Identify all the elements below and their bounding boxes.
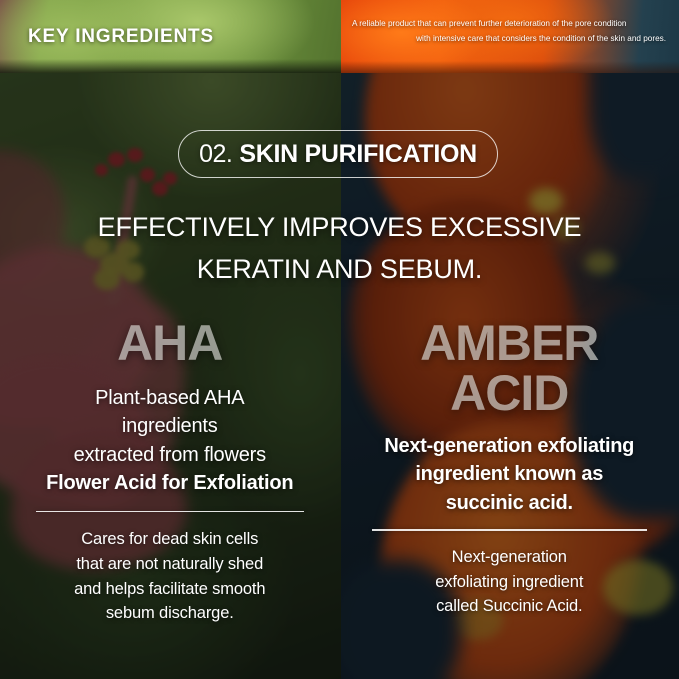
- ingredient-body-line: ingredient known as: [362, 460, 658, 488]
- ingredient-title-amber-acid: AMBER ACID: [362, 318, 658, 418]
- ingredient-title-line: ACID: [362, 368, 658, 418]
- section-badge-number: 02.: [199, 140, 232, 169]
- ingredient-subtext-line: exfoliating ingredient: [362, 570, 658, 595]
- ingredient-subtext-line: Cares for dead skin cells: [26, 527, 314, 552]
- ingredient-body-line: Next-generation exfoliating: [362, 432, 658, 460]
- ingredient-body-line: succinic acid.: [362, 489, 658, 517]
- ingredient-subtext-amber-acid: Next-generation exfoliating ingredient c…: [362, 545, 658, 619]
- section-headline: EFFECTIVELY IMPROVES EXCESSIVE KERATIN A…: [0, 207, 679, 291]
- key-ingredients-infographic: KEY INGREDIENTS A reliable product that …: [0, 0, 679, 679]
- ingredient-body-amber-acid: Next-generation exfoliating ingredient k…: [362, 432, 658, 517]
- ingredient-body-line: Plant-based AHA: [26, 384, 314, 412]
- ingredient-subtext-line: and helps facilitate smooth: [26, 577, 314, 602]
- column-divider: [36, 511, 304, 513]
- headline-line-1: EFFECTIVELY IMPROVES EXCESSIVE: [0, 207, 679, 249]
- ingredient-subtext-line: that are not naturally shed: [26, 552, 314, 577]
- headline-line-2: KERATIN AND SEBUM.: [0, 249, 679, 291]
- ingredient-column-aha: AHA Plant-based AHA ingredients extracte…: [0, 318, 340, 626]
- ingredient-subtext-aha: Cares for dead skin cells that are not n…: [26, 527, 314, 626]
- ingredient-title-aha: AHA: [26, 318, 314, 368]
- ingredient-subtext-line: sebum discharge.: [26, 601, 314, 626]
- ingredient-subtext-line: called Succinic Acid.: [362, 594, 658, 619]
- ingredient-body-line: ingredients: [26, 412, 314, 440]
- ingredient-column-amber-acid: AMBER ACID Next-generation exfoliating i…: [340, 318, 679, 626]
- section-badge: 02. SKIN PURIFICATION: [178, 130, 498, 178]
- main-content: 02. SKIN PURIFICATION EFFECTIVELY IMPROV…: [0, 0, 679, 679]
- ingredient-body-emphasis: Flower Acid for Exfoliation: [26, 469, 314, 497]
- ingredient-body-aha: Plant-based AHA ingredients extracted fr…: [26, 384, 314, 498]
- column-divider: [372, 529, 648, 531]
- section-badge-label: SKIN PURIFICATION: [239, 140, 477, 169]
- ingredient-body-line: extracted from flowers: [26, 441, 314, 469]
- ingredient-columns: AHA Plant-based AHA ingredients extracte…: [0, 318, 679, 626]
- ingredient-title-line: AMBER: [362, 318, 658, 368]
- ingredient-subtext-line: Next-generation: [362, 545, 658, 570]
- ingredient-title-line: AHA: [26, 318, 314, 368]
